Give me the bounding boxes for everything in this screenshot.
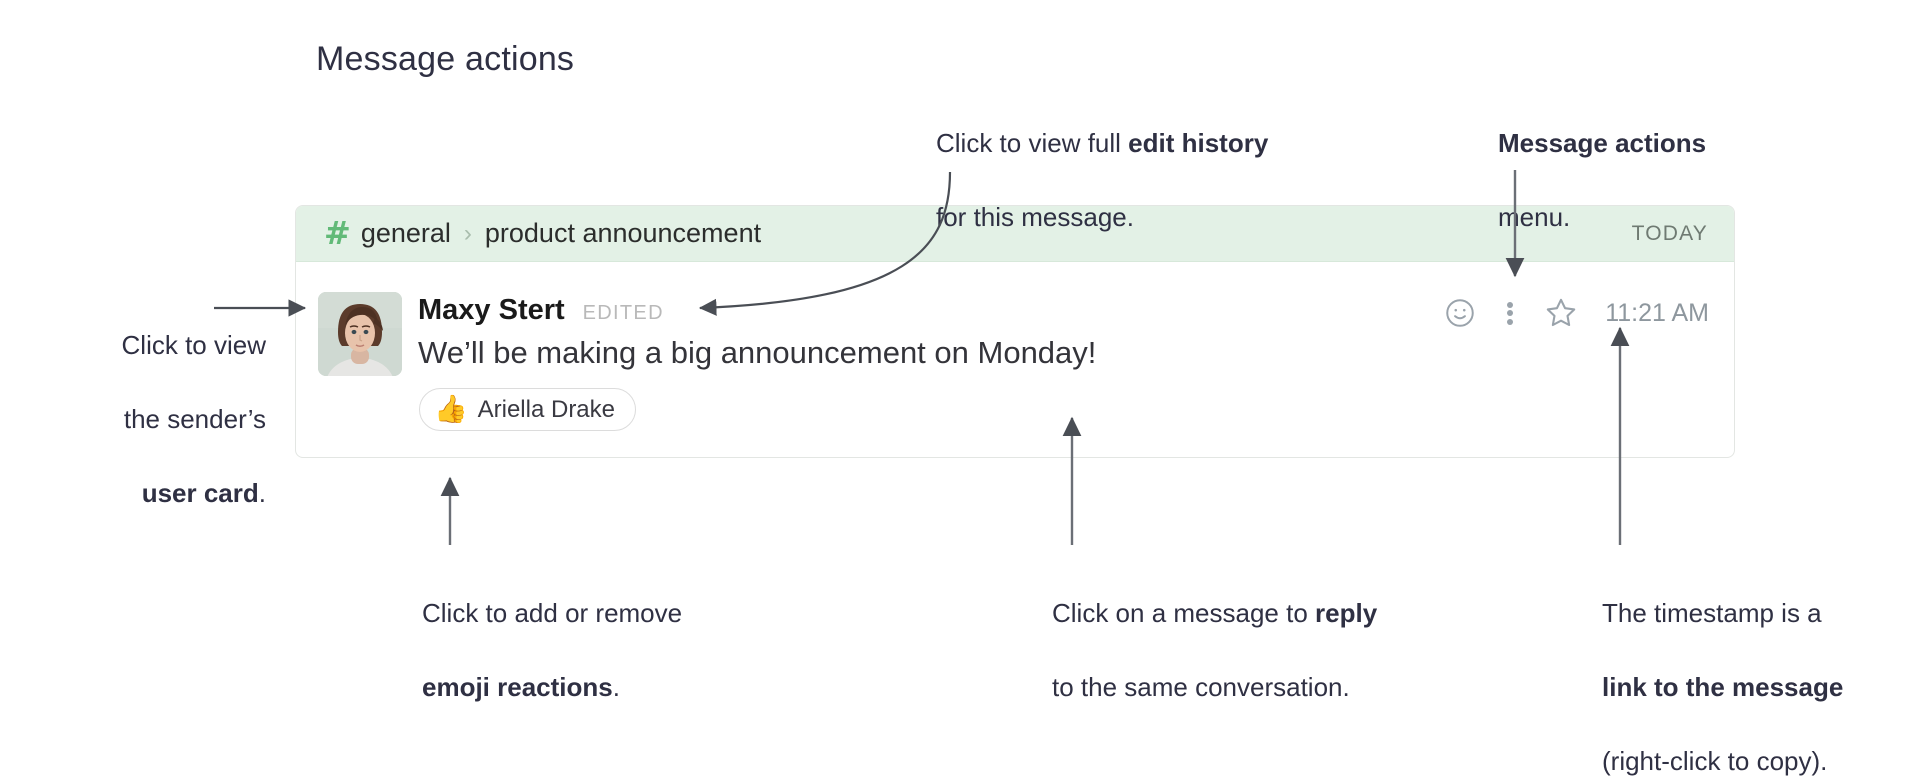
annotation-edit-history-line2: for this message. — [936, 202, 1134, 232]
annotation-reactions-bold: emoji reactions — [422, 672, 613, 702]
annotation-reply-line2: to the same conversation. — [1052, 672, 1350, 702]
reaction-pill[interactable]: 👍 Ariella Drake — [419, 388, 636, 431]
sender-line[interactable]: Maxy Stert EDITED — [418, 294, 664, 327]
message-row[interactable]: Maxy Stert EDITED We’ll be making a big … — [296, 262, 1734, 457]
avatar-photo — [318, 292, 402, 376]
avatar[interactable] — [318, 292, 402, 376]
kebab-dot — [1507, 310, 1513, 316]
edited-badge[interactable]: EDITED — [583, 302, 664, 325]
annotation-reactions: Click to add or remove emoji reactions. — [422, 558, 782, 706]
annotation-timestamp-line3: (right-click to copy). — [1602, 746, 1827, 776]
annotation-timestamp-bold: link to the message — [1602, 672, 1843, 702]
annotation-user-card-line1: Click to view — [122, 330, 266, 360]
annotation-reactions-line1: Click to add or remove — [422, 598, 682, 628]
annotation-user-card-tail: . — [259, 478, 266, 508]
reaction-label: Ariella Drake — [478, 396, 615, 424]
message-card[interactable]: # general › product announcement TODAY — [295, 205, 1735, 458]
annotation-timestamp-line1: The timestamp is a — [1602, 598, 1822, 628]
message-body[interactable]: We’ll be making a big announcement on Mo… — [418, 335, 1096, 371]
annotation-reply: Click on a message to reply to the same … — [1052, 558, 1472, 706]
sender-name[interactable]: Maxy Stert — [418, 294, 565, 327]
annotation-reactions-tail: . — [613, 672, 620, 702]
breadcrumb-topic[interactable]: product announcement — [485, 218, 761, 249]
breadcrumb-channel[interactable]: general — [361, 218, 451, 249]
annotation-edit-history-bold: edit history — [1128, 128, 1268, 158]
annotation-actions-menu-line2: menu. — [1498, 202, 1570, 232]
annotation-timestamp: The timestamp is a link to the message (… — [1602, 558, 1922, 780]
annotation-reply-lead: Click on a message to — [1052, 598, 1315, 628]
chevron-right-icon: › — [464, 222, 472, 246]
message-actions-menu-icon[interactable] — [1507, 302, 1513, 325]
annotation-edit-history-lead: Click to view full — [936, 128, 1128, 158]
page-title: Message actions — [316, 40, 574, 79]
thumbs-up-icon: 👍 — [434, 396, 468, 423]
annotation-edit-history: Click to view full edit history for this… — [936, 88, 1376, 236]
annotation-actions-menu: Message actions menu. — [1498, 88, 1798, 236]
star-message-icon[interactable] — [1543, 295, 1579, 331]
message-controls[interactable]: 11:21 AM — [1443, 295, 1709, 331]
kebab-dot — [1507, 302, 1513, 308]
annotation-user-card-bold: user card — [142, 478, 259, 508]
annotation-actions-menu-bold: Message actions — [1498, 128, 1706, 158]
hash-icon: # — [324, 217, 351, 249]
kebab-dot — [1507, 319, 1513, 325]
add-reaction-icon[interactable] — [1443, 296, 1477, 330]
annotation-reply-bold: reply — [1315, 598, 1377, 628]
annotation-user-card: Click to view the sender’s user card. — [36, 290, 266, 512]
message-timestamp-link[interactable]: 11:21 AM — [1605, 299, 1709, 328]
annotation-user-card-line2: the sender’s — [124, 404, 266, 434]
